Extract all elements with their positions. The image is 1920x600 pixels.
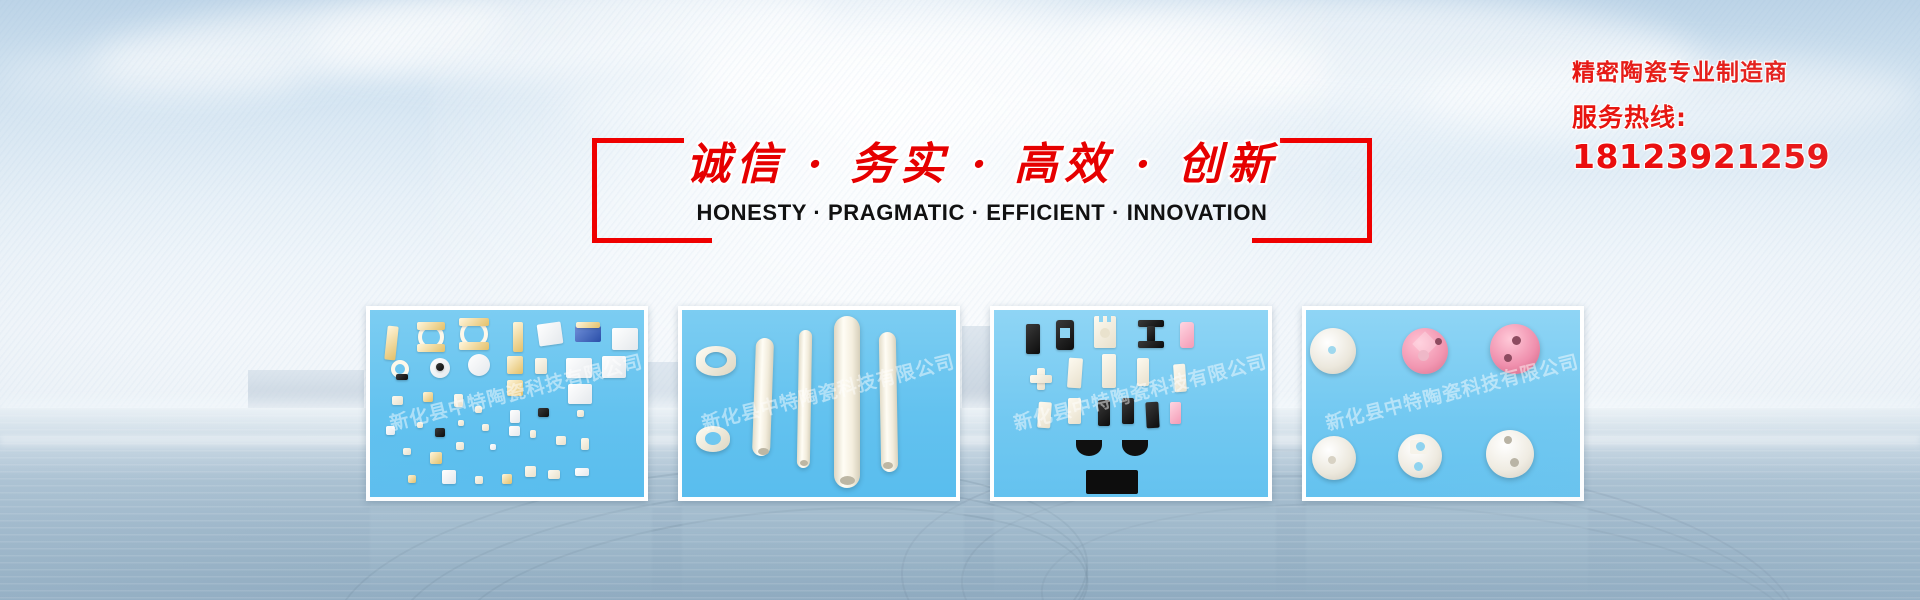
ceramic-part — [408, 475, 416, 483]
disc-hole — [1416, 442, 1425, 451]
ceramic-disc — [1490, 324, 1540, 374]
ceramic-part — [575, 326, 601, 342]
ceramic-part — [454, 394, 463, 407]
ceramic-part — [1138, 341, 1164, 348]
ceramic-part — [436, 363, 444, 371]
ceramic-part — [548, 470, 560, 479]
panel-reflection — [370, 503, 652, 595]
disc-hole — [1418, 350, 1429, 361]
ceramic-part — [1037, 402, 1052, 429]
panel-background — [370, 310, 644, 497]
ceramic-tube — [879, 332, 898, 472]
ceramic-slot — [1060, 328, 1070, 338]
ceramic-part — [1170, 402, 1181, 424]
ceramic-part — [1122, 398, 1134, 424]
ceramic-part — [1145, 402, 1159, 429]
product-panel-3[interactable]: 新化县中特陶瓷科技有限公司 — [990, 306, 1272, 501]
ceramic-part — [1137, 358, 1149, 386]
ceramic-part — [502, 474, 512, 484]
ceramic-part — [568, 384, 592, 404]
bracket-bottom-left-icon — [592, 238, 712, 243]
ceramic-tube — [834, 316, 860, 488]
ceramic-part — [475, 406, 482, 413]
product-panel-4[interactable]: 新化县中特陶瓷科技有限公司 — [1302, 306, 1584, 501]
slogan-english: HONESTY · PRAGMATIC · EFFICIENT · INNOVA… — [592, 200, 1372, 226]
ceramic-part — [507, 380, 523, 396]
ceramic-part — [392, 396, 403, 405]
ceramic-part — [1068, 398, 1081, 424]
ceramic-part — [538, 408, 549, 417]
ceramic-part — [1147, 326, 1155, 342]
company-tagline: 精密陶瓷专业制造商 — [1572, 62, 1902, 85]
tube-bore — [883, 462, 893, 469]
ceramic-part — [1180, 322, 1194, 348]
bracket-bottom-right-icon — [1252, 238, 1372, 243]
ceramic-part — [459, 342, 489, 350]
ceramic-part — [386, 426, 395, 435]
ceramic-slot — [1099, 314, 1103, 322]
ceramic-part — [468, 354, 490, 376]
slogan-chinese: 诚信 · 务实 · 高效 · 创新 — [592, 128, 1372, 192]
ceramic-part — [490, 444, 496, 450]
ceramic-part — [612, 328, 638, 350]
ceramic-part — [396, 374, 408, 380]
ceramic-part — [417, 422, 423, 428]
product-panel-1[interactable]: 新化县中特陶瓷科技有限公司 — [366, 306, 648, 501]
ceramic-part — [459, 318, 489, 326]
ceramic-ring-hole — [705, 352, 727, 368]
promo-banner: 诚信 · 务实 · 高效 · 创新 HONESTY · PRAGMATIC · … — [0, 0, 1920, 600]
ceramic-part — [1026, 324, 1040, 354]
ceramic-part — [575, 468, 589, 476]
ceramic-part — [403, 448, 411, 455]
ceramic-part — [602, 356, 626, 378]
disc-hole — [1328, 346, 1336, 354]
ceramic-cross — [1030, 375, 1052, 383]
ceramic-part — [1102, 354, 1116, 388]
disc-hole — [1328, 456, 1336, 464]
panel-background — [682, 310, 956, 497]
ceramic-part — [510, 410, 520, 423]
disc-hole — [1414, 462, 1423, 471]
disc-hole — [1504, 436, 1512, 444]
ceramic-hole — [1100, 328, 1110, 338]
ceramic-part — [537, 321, 564, 346]
tube-bore — [758, 448, 769, 455]
disc-hole — [1512, 336, 1521, 345]
ceramic-slot — [1107, 314, 1111, 322]
ceramic-part — [430, 452, 442, 464]
ceramic-part — [566, 358, 592, 378]
ceramic-part — [530, 430, 536, 438]
ceramic-part — [417, 322, 445, 330]
ceramic-ring-hole — [705, 432, 721, 445]
ceramic-part — [581, 438, 589, 450]
hotline-number[interactable]: 18123921259 — [1572, 140, 1902, 173]
slogan-block: 诚信 · 务实 · 高效 · 创新 HONESTY · PRAGMATIC · … — [592, 138, 1372, 248]
ceramic-part — [456, 442, 464, 450]
ceramic-part — [1173, 364, 1187, 393]
ceramic-part — [423, 392, 433, 402]
hotline-label: 服务热线: — [1572, 105, 1902, 130]
ceramic-part — [458, 420, 464, 426]
disc-hole — [1435, 338, 1442, 345]
product-panel-row: 新化县中特陶瓷科技有限公司 新化县中特陶瓷科技有限公司 — [366, 306, 1566, 501]
ceramic-part — [475, 476, 483, 484]
panel-reflection — [1306, 503, 1588, 595]
ceramic-part — [1098, 400, 1110, 426]
panel-reflection — [682, 503, 964, 595]
ceramic-part — [535, 358, 547, 374]
disc-hole — [1510, 458, 1519, 467]
ceramic-part — [507, 356, 523, 374]
panel-reflections — [370, 503, 1570, 595]
ceramic-part — [577, 410, 584, 417]
ceramic-part — [556, 436, 566, 445]
tube-bore — [800, 460, 808, 466]
ceramic-tube — [797, 330, 812, 468]
ceramic-part — [1067, 358, 1083, 389]
ceramic-part — [442, 470, 456, 484]
panel-reflection — [994, 503, 1276, 595]
ceramic-part — [509, 426, 520, 436]
tube-bore — [840, 476, 855, 485]
ceramic-part — [513, 322, 523, 352]
ceramic-part — [417, 344, 445, 352]
ceramic-part — [482, 424, 489, 431]
contact-block: 精密陶瓷专业制造商 服务热线: 18123921259 — [1572, 62, 1902, 173]
product-panel-2[interactable]: 新化县中特陶瓷科技有限公司 — [678, 306, 960, 501]
ceramic-part — [435, 428, 445, 437]
ceramic-block — [1086, 470, 1138, 494]
ceramic-part — [576, 322, 600, 328]
disc-hole — [1504, 354, 1512, 362]
ceramic-part — [525, 466, 536, 477]
